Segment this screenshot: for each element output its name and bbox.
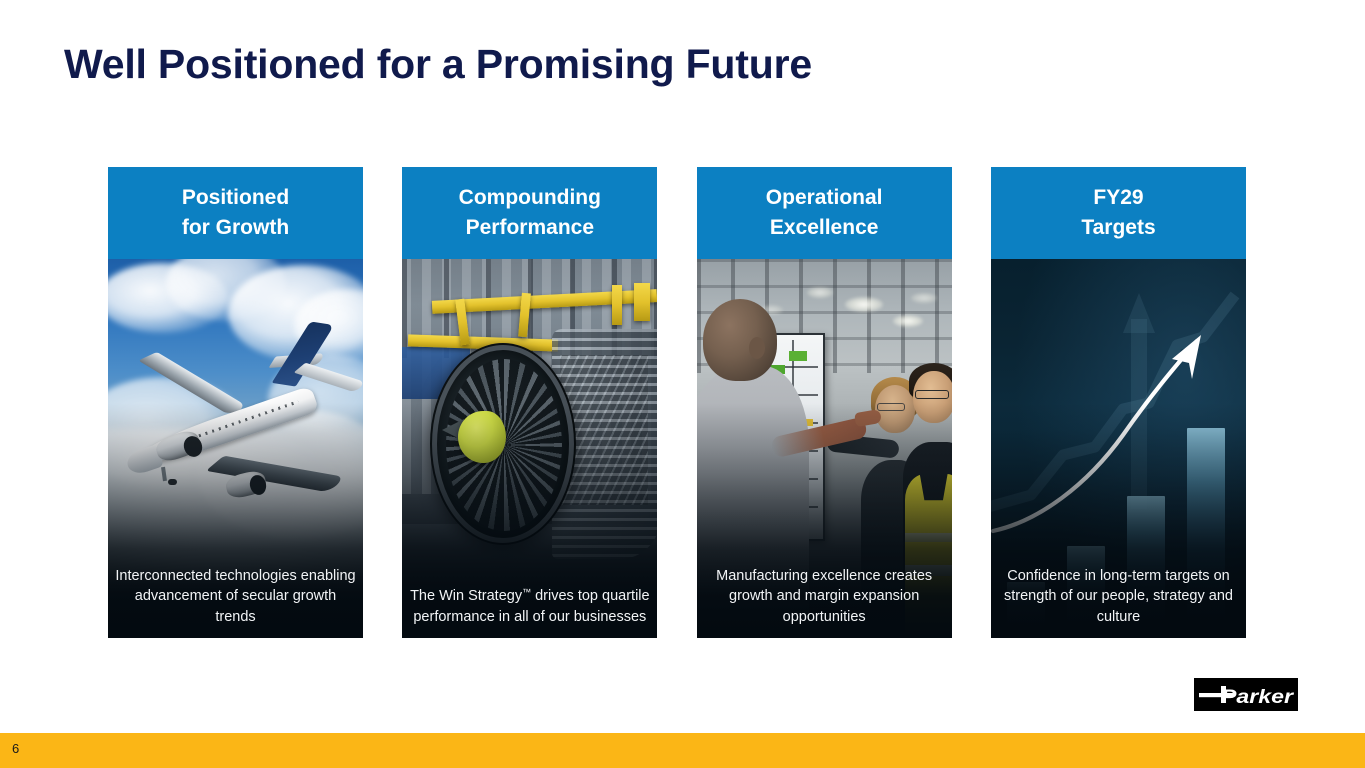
card-header-3-line1: Operational: [766, 183, 883, 213]
card-body-4: Confidence in long-term targets on stren…: [991, 259, 1246, 638]
card-header-1: Positioned for Growth: [108, 167, 363, 259]
card-header-4-line1: FY29: [1081, 183, 1155, 213]
card-header-1-line2: for Growth: [182, 213, 289, 243]
card-header-1-line1: Positioned: [182, 183, 289, 213]
page-title: Well Positioned for a Promising Future: [64, 41, 812, 88]
footer-bar: 6: [0, 733, 1365, 768]
parker-wordmark-icon: Parker: [1194, 678, 1298, 711]
card-header-2: Compounding Performance: [402, 167, 657, 259]
card-caption-3: Manufacturing excellence creates growth …: [703, 566, 946, 628]
card-header-4-line2: Targets: [1081, 213, 1155, 243]
card-compounding-performance[interactable]: Compounding Performance: [402, 167, 657, 638]
card-caption-1: Interconnected technologies enabling adv…: [114, 566, 357, 628]
card-caption-2: The Win Strategy™ drives top quartile pe…: [408, 586, 651, 627]
card-caption-4: Confidence in long-term targets on stren…: [997, 566, 1240, 628]
card-header-3: Operational Excellence: [697, 167, 952, 259]
card-header-4: FY29 Targets: [991, 167, 1246, 259]
card-positioned-for-growth[interactable]: Positioned for Growth: [108, 167, 363, 638]
slide-canvas: Well Positioned for a Promising Future P…: [0, 0, 1365, 768]
card-fy29-targets[interactable]: FY29 Targets: [991, 167, 1246, 638]
trademark-symbol: ™: [522, 587, 531, 597]
card-header-3-line2: Excellence: [766, 213, 883, 243]
card-header-2-line1: Compounding: [459, 183, 601, 213]
card-header-2-line2: Performance: [459, 213, 601, 243]
caption-2-pre: The Win Strategy: [410, 588, 522, 604]
page-number: 6: [12, 741, 19, 756]
parker-logo: Parker: [1194, 678, 1298, 711]
card-operational-excellence[interactable]: Operational Excellence: [697, 167, 952, 638]
svg-text:Parker: Parker: [1221, 687, 1295, 708]
card-body-3: Manufacturing excellence creates growth …: [697, 259, 952, 638]
card-body-2: The Win Strategy™ drives top quartile pe…: [402, 259, 657, 638]
card-row: Positioned for Growth: [108, 167, 1246, 638]
card-body-1: Interconnected technologies enabling adv…: [108, 259, 363, 638]
